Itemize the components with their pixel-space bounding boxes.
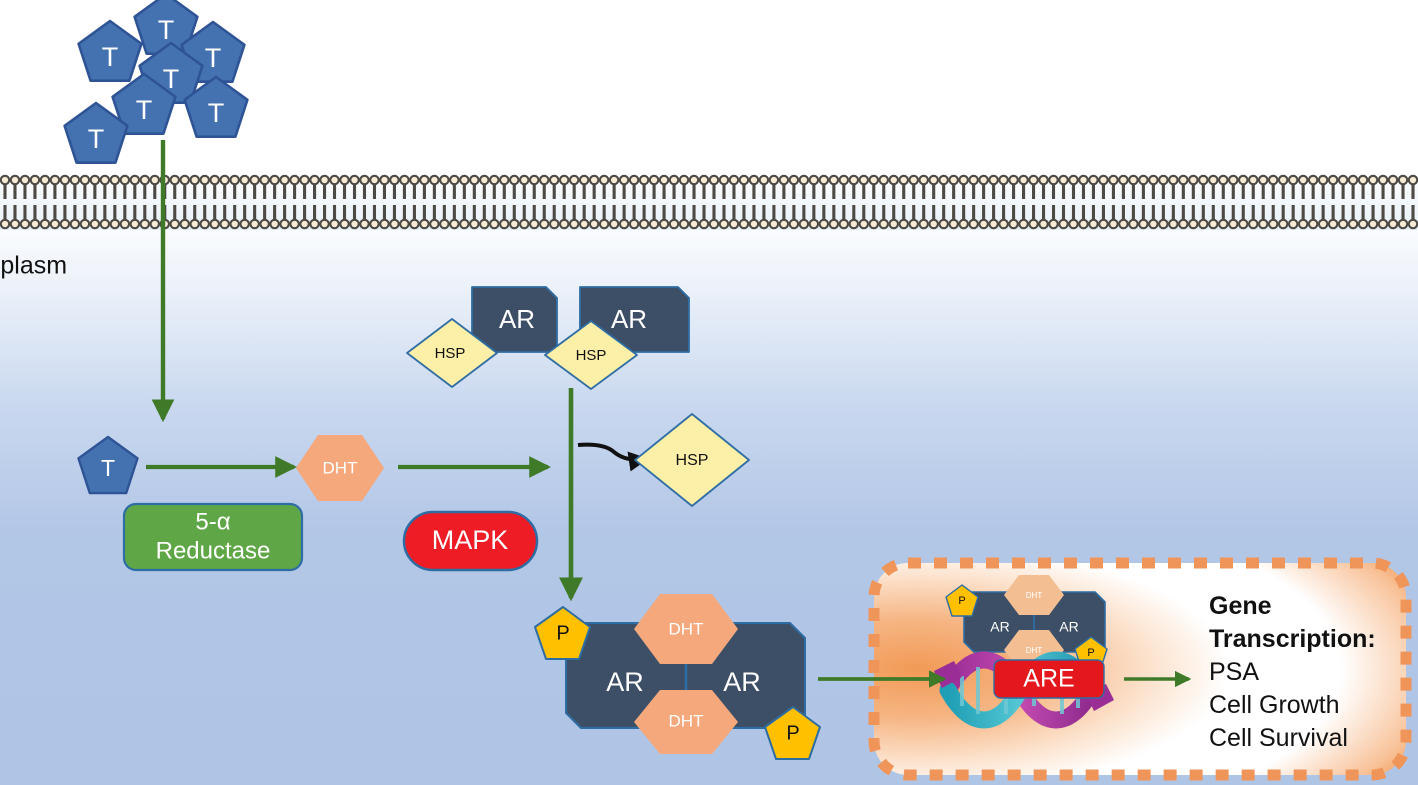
gene-transcription-item-0: PSA <box>1209 658 1259 686</box>
ar-dimer-dht-top-label: DHT <box>669 619 704 638</box>
reductase-label-line1: 5-α <box>195 508 230 535</box>
are-label: ARE <box>1023 665 1074 693</box>
nuclear-dht-top-label: DHT <box>1026 591 1043 600</box>
testosterone-label: T <box>205 43 222 73</box>
testosterone-label: T <box>102 42 119 72</box>
nuclear-phosphate-left-label: P <box>958 595 965 607</box>
nucleus: AR AR DHT DHT P P <box>874 563 1406 775</box>
testosterone-label: T <box>88 124 105 154</box>
ar-dimer-left-label: AR <box>606 667 644 697</box>
testosterone-label: T <box>158 15 175 45</box>
hsp-label-1: HSP <box>435 345 466 362</box>
ar-dimer-dht-bottom-label: DHT <box>669 711 704 730</box>
testosterone-label: T <box>136 95 153 125</box>
diagram-canvas: TTTTTTT Cytoplasm T DHT 5-α Reductase MA… <box>0 0 1418 785</box>
hsp-label-2: HSP <box>576 347 607 364</box>
mapk-kinase: MAPK <box>404 512 537 570</box>
gene-transcription-item-2: Cell Survival <box>1209 724 1348 752</box>
five-alpha-reductase: 5-α Reductase <box>124 504 302 570</box>
nuclear-ar-right-label: AR <box>1059 619 1078 635</box>
are-element: ARE <box>994 660 1104 698</box>
gene-transcription-heading-line2: Transcription: <box>1209 625 1376 653</box>
dht-label: DHT <box>323 458 358 477</box>
cytoplasm-label: Cytoplasm <box>0 252 67 280</box>
pathway-diagram: TTTTTTT Cytoplasm T DHT 5-α Reductase MA… <box>0 0 1418 785</box>
ar-dimer-right-label: AR <box>723 667 761 697</box>
nuclear-phosphate-right-label: P <box>1087 647 1094 659</box>
testosterone-label: T <box>208 98 225 128</box>
hsp-label-free: HSP <box>676 452 709 469</box>
phosphate-left-label: P <box>556 622 569 644</box>
nuclear-dht-bottom-label: DHT <box>1026 646 1043 655</box>
ar-label-2: AR <box>611 304 647 334</box>
ar-label-1: AR <box>499 304 535 334</box>
mapk-label: MAPK <box>432 525 509 555</box>
gene-transcription-item-1: Cell Growth <box>1209 691 1340 719</box>
nuclear-ar-left-label: AR <box>990 619 1009 635</box>
phosphate-right-label: P <box>786 722 799 744</box>
gene-transcription-heading-line1: Gene <box>1209 592 1272 620</box>
testosterone-label: T <box>101 455 115 481</box>
reductase-label-line2: Reductase <box>156 537 271 564</box>
